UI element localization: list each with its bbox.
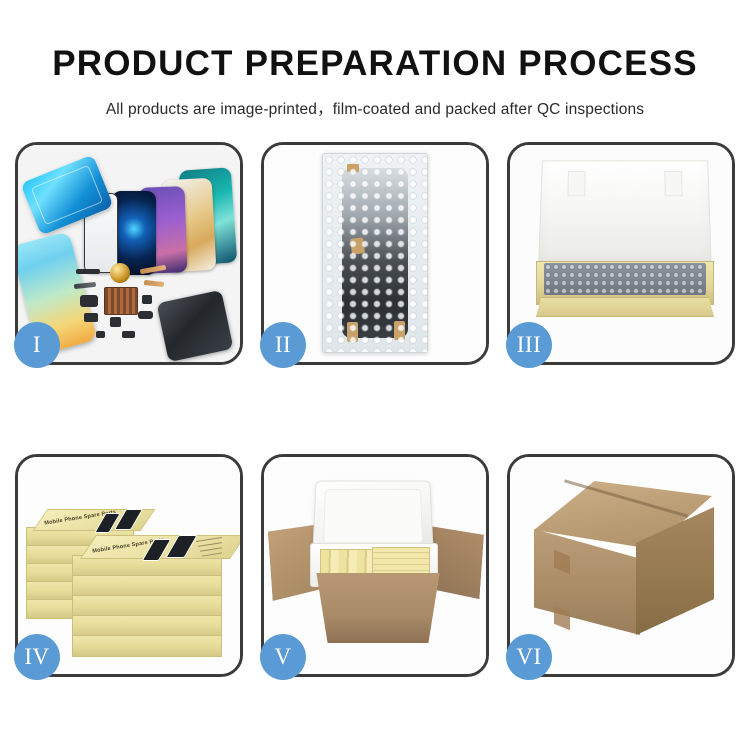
flex-cable-3 <box>74 282 96 289</box>
step-badge-4: IV <box>14 634 60 680</box>
process-step-card-3[interactable]: III <box>507 142 735 365</box>
box-front-1 <box>72 635 222 657</box>
step-badge-1: I <box>14 322 60 368</box>
part-bar-1 <box>76 269 100 274</box>
box-stack: Mobile Phone Spare Parts Mobile Phone Sp… <box>26 483 240 663</box>
lid-tab-right <box>664 171 682 196</box>
process-step-card-6[interactable]: VI <box>507 454 735 677</box>
box-tray-front <box>536 297 714 317</box>
part-bar-2 <box>80 295 98 307</box>
page-title: PRODUCT PREPARATION PROCESS <box>0 0 750 81</box>
process-step-card-4[interactable]: Mobile Phone Spare Parts Mobile Phone Sp… <box>15 454 243 677</box>
chip-board <box>104 287 138 315</box>
product-preparation-infographic: PRODUCT PREPARATION PROCESS All products… <box>0 0 750 750</box>
bubble-texture-overlay <box>323 154 427 352</box>
process-step-card-5[interactable]: V <box>261 454 489 677</box>
part-bar-7 <box>96 331 105 338</box>
part-bar-8 <box>122 331 135 338</box>
page-subtitle: All products are image-printed，film-coat… <box>0 81 750 119</box>
speaker-component <box>110 263 130 283</box>
part-bar-6 <box>110 317 121 327</box>
bubble-wrap-filling <box>544 263 706 295</box>
process-step-grid: I II <box>15 142 735 677</box>
box-front-3 <box>72 595 222 617</box>
step-badge-3: III <box>506 322 552 368</box>
lid-tab-left <box>567 171 585 196</box>
box-lid <box>538 160 712 267</box>
process-step-card-1[interactable]: I <box>15 142 243 365</box>
process-step-card-2[interactable]: II <box>261 142 489 365</box>
part-bar-4 <box>142 295 152 304</box>
part-bar-3 <box>84 313 98 322</box>
header: PRODUCT PREPARATION PROCESS All products… <box>0 0 750 119</box>
phone-backplate <box>156 290 233 362</box>
carton-front-face <box>534 529 640 635</box>
step-badge-6: VI <box>506 634 552 680</box>
flex-cable-2 <box>144 280 164 287</box>
bubble-wrap-bag <box>322 153 428 353</box>
box-front-2 <box>72 615 222 637</box>
step-badge-5: V <box>260 634 306 680</box>
box-front-4 <box>72 575 222 597</box>
step-badge-2: II <box>260 322 306 368</box>
carton-body <box>308 573 448 643</box>
part-bar-5 <box>138 311 153 319</box>
